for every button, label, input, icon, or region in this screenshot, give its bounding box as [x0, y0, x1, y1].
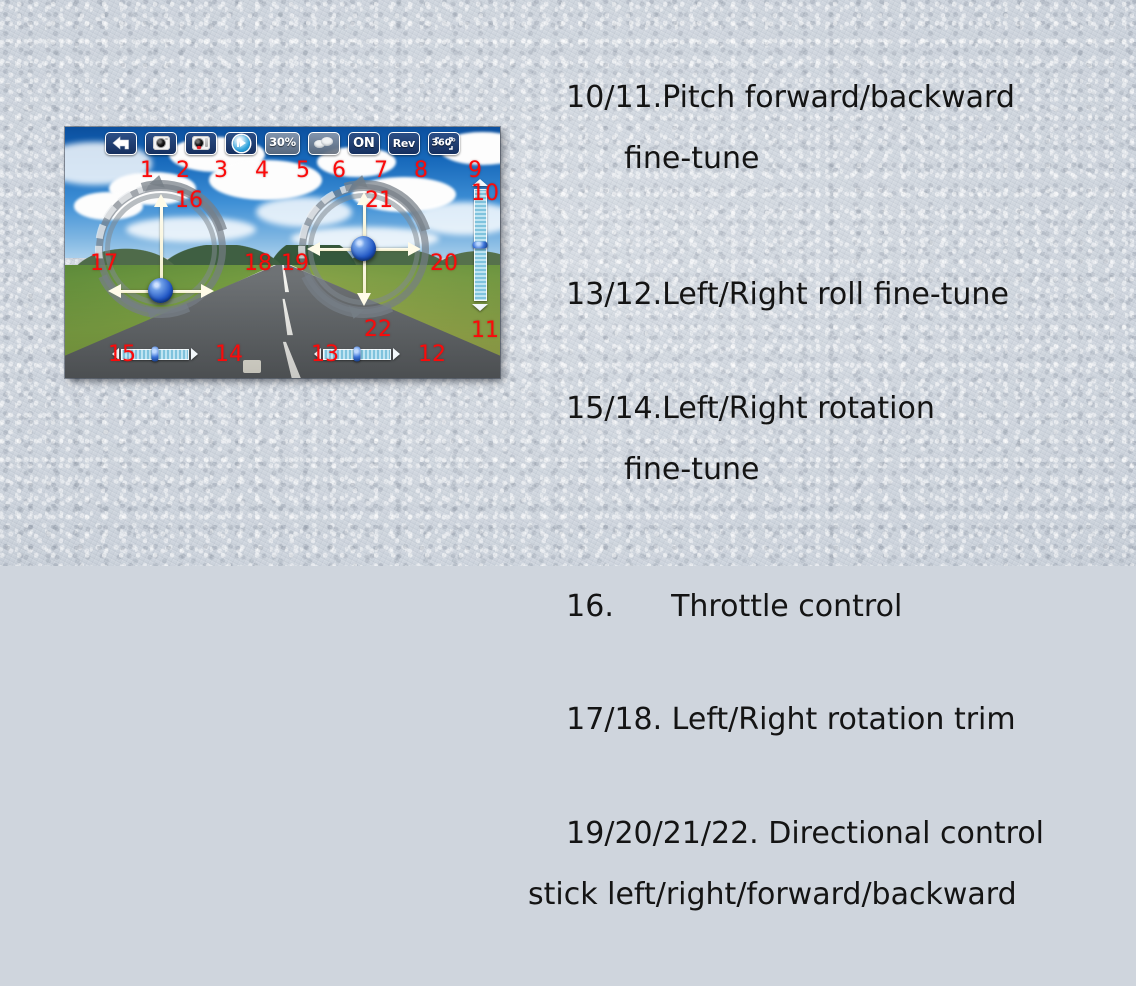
caption-item-directional: 19/20/21/22. Directional control stick l…	[528, 788, 1132, 972]
caption-line-continued: fine-tune	[528, 144, 1132, 175]
callout-20: 20	[430, 253, 458, 275]
trim-slider-knob[interactable]	[354, 347, 361, 362]
caption-line: 15/14.Left/Right rotation	[566, 391, 935, 426]
caption-item-throttle: 16. Throttle control	[528, 561, 1132, 653]
reverse-button[interactable]: Rev	[388, 132, 420, 155]
back-arrow-icon	[112, 136, 130, 151]
callout-19: 19	[281, 253, 309, 275]
trim-right-arrow-icon[interactable]	[191, 348, 198, 360]
playback-button[interactable]	[225, 132, 257, 155]
callout-12: 12	[418, 344, 446, 366]
caption-line-continued: fine-tune	[528, 455, 1132, 486]
caption-item-pitch: 10/11.Pitch forward/backward fine-tune	[528, 52, 1132, 236]
callout-16: 16	[175, 190, 203, 212]
weather-cloud-icon	[314, 137, 333, 150]
callout-22: 22	[364, 319, 392, 341]
flip-360-label: 360°	[432, 138, 457, 149]
callout-11: 11	[471, 320, 499, 342]
video-record-icon	[192, 136, 210, 150]
callout-5: 5	[296, 160, 310, 182]
stick-knob[interactable]	[351, 236, 376, 261]
trim-slider-knob[interactable]	[152, 347, 159, 362]
speed-rate-label: 30%	[269, 137, 296, 149]
caption-line: 13/12.Left/Right roll fine-tune	[566, 277, 1009, 312]
callout-8: 8	[414, 160, 428, 182]
directional-control-stick[interactable]	[299, 184, 429, 314]
callout-21: 21	[365, 190, 393, 212]
reverse-label: Rev	[393, 138, 415, 149]
record-indicator-dot	[197, 146, 201, 150]
legend-caption-list: 10/11.Pitch forward/backward fine-tune 1…	[528, 52, 1132, 986]
throttle-rotation-stick[interactable]	[96, 184, 226, 314]
app-toolbar: 30% ON Rev 360°	[65, 129, 500, 157]
rotate-360-icon: 360°	[434, 136, 454, 151]
caption-line: 19/20/21/22. Directional control	[566, 816, 1044, 851]
callout-17: 17	[90, 253, 118, 275]
stick-knob[interactable]	[148, 278, 173, 303]
caption-line: 16. Throttle control	[566, 589, 902, 624]
callout-13: 13	[311, 344, 339, 366]
caption-item-roll: 13/12.Left/Right roll fine-tune	[528, 250, 1132, 342]
callout-7: 7	[374, 160, 388, 182]
pitch-down-arrow-icon[interactable]	[472, 304, 488, 311]
camera-icon	[153, 136, 170, 150]
speed-rate-button[interactable]: 30%	[265, 132, 300, 155]
caption-line: 10/11.Pitch forward/backward	[566, 80, 1015, 115]
callout-9: 9	[468, 160, 482, 182]
pitch-slider-knob[interactable]	[473, 242, 488, 249]
callout-18: 18	[244, 253, 272, 275]
arrow-up	[158, 194, 164, 290]
trim-right-arrow-icon[interactable]	[393, 348, 400, 360]
callout-14: 14	[215, 344, 243, 366]
callout-10: 10	[471, 183, 499, 205]
power-toggle-label: ON	[353, 137, 374, 150]
callout-15: 15	[108, 344, 136, 366]
callout-2: 2	[176, 160, 190, 182]
caption-line: 17/18. Left/Right rotation trim	[566, 702, 1015, 737]
callout-6: 6	[332, 160, 346, 182]
video-record-button[interactable]	[185, 132, 217, 155]
play-pause-icon	[233, 135, 250, 152]
callout-4: 4	[255, 160, 269, 182]
caption-item-rotation: 15/14.Left/Right rotation fine-tune	[528, 363, 1132, 547]
caption-item-rotation-trim: 17/18. Left/Right rotation trim	[528, 675, 1132, 767]
callout-3: 3	[214, 160, 228, 182]
headless-mode-button[interactable]	[308, 132, 340, 155]
flip-360-button[interactable]: 360°	[428, 132, 460, 155]
caption-line-continued: stick left/right/forward/backward	[528, 880, 1132, 911]
photo-capture-button[interactable]	[145, 132, 177, 155]
power-toggle-button[interactable]: ON	[348, 132, 380, 155]
back-button[interactable]	[105, 132, 137, 155]
callout-1: 1	[140, 160, 154, 182]
